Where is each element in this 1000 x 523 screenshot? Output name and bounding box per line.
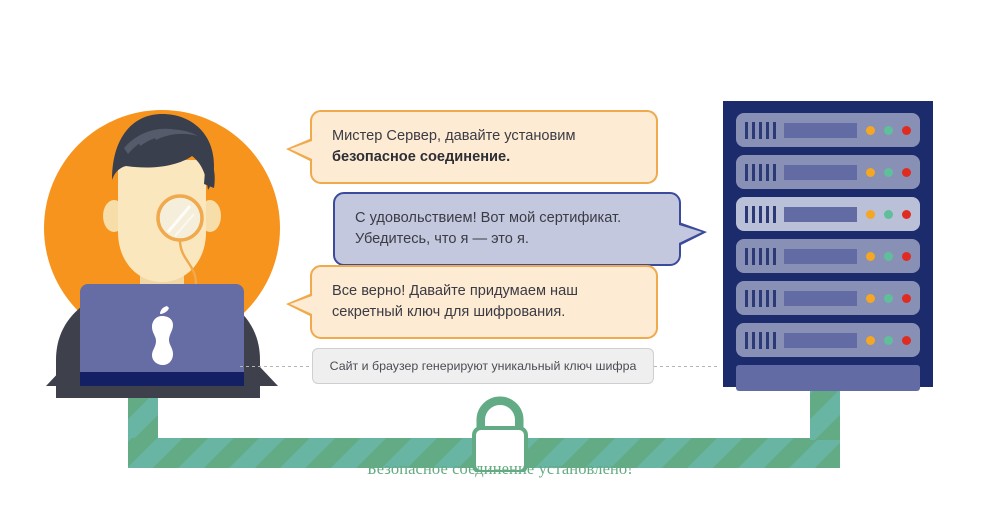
vent-bar (773, 332, 776, 349)
bubble-tail-left (286, 138, 312, 162)
speech-bubble-browser-2[interactable]: Все верно! Давайте придумаем наш секретн… (310, 265, 658, 339)
server-led-group (866, 210, 911, 219)
connector-band-right (810, 388, 840, 440)
vent-bar (773, 164, 776, 181)
vent-bar (745, 206, 748, 223)
status-led (866, 126, 875, 135)
vent-bar (745, 290, 748, 307)
vent-bar (766, 122, 769, 139)
status-led (902, 126, 911, 135)
server-led-group (866, 294, 911, 303)
status-led (884, 126, 893, 135)
vent-bar (752, 332, 755, 349)
status-led (902, 336, 911, 345)
server-drive-slot (784, 207, 857, 222)
vent-bar (773, 248, 776, 265)
keygen-label: Сайт и браузер генерируют уникальный клю… (312, 348, 654, 384)
caption-secure-connection: Безопасное соединение установлено! (0, 459, 1000, 479)
speech-bubble-server-1[interactable]: С удовольствием! Вот мой сертификат. Убе… (333, 192, 681, 266)
keygen-label-text: Сайт и браузер генерируют уникальный клю… (330, 359, 637, 373)
status-led (902, 252, 911, 261)
server-drive-slot (784, 333, 857, 348)
bubble-3-line-2: секретный ключ для шифрования. (332, 302, 636, 323)
laptop-base (80, 372, 244, 386)
status-led (884, 210, 893, 219)
connector-band-left (128, 396, 158, 440)
laptop (46, 284, 278, 386)
status-led (866, 294, 875, 303)
server-drive-slot (784, 165, 857, 180)
status-led (866, 210, 875, 219)
server-led-group (866, 168, 911, 177)
status-led (884, 294, 893, 303)
server-unit (736, 197, 920, 231)
vent-bar (745, 164, 748, 181)
vent-bar (745, 248, 748, 265)
status-led (902, 294, 911, 303)
vent-bar (759, 206, 762, 223)
bubble-3-line-1: Все верно! Давайте придумаем наш (332, 281, 636, 302)
speech-bubble-browser-1[interactable]: Мистер Сервер, давайте установим безопас… (310, 110, 658, 184)
vent-bar (766, 248, 769, 265)
bubble-1-line-2-bold: безопасное соединение. (332, 149, 510, 165)
server-rack (723, 101, 933, 387)
server-unit (736, 155, 920, 189)
status-led (902, 168, 911, 177)
character-illustration (28, 88, 296, 398)
server-vents-icon (745, 206, 776, 223)
vent-bar (752, 290, 755, 307)
vent-bar (766, 164, 769, 181)
vent-bar (759, 122, 762, 139)
server-vents-icon (745, 332, 776, 349)
bubble-1-line-1: Мистер Сервер, давайте установим (332, 126, 636, 147)
vent-bar (773, 290, 776, 307)
vent-bar (745, 122, 748, 139)
server-unit (736, 281, 920, 315)
vent-bar (752, 206, 755, 223)
server-unit (736, 113, 920, 147)
vent-bar (759, 164, 762, 181)
vent-bar (752, 248, 755, 265)
status-led (866, 336, 875, 345)
vent-bar (766, 206, 769, 223)
server-blank-panel (736, 365, 920, 391)
server-drive-slot (784, 249, 857, 264)
vent-bar (773, 122, 776, 139)
status-led (866, 168, 875, 177)
server-unit (736, 239, 920, 273)
status-led (884, 252, 893, 261)
vent-bar (766, 290, 769, 307)
server-drive-slot (784, 123, 857, 138)
server-led-group (866, 126, 911, 135)
server-vents-icon (745, 164, 776, 181)
vent-bar (766, 332, 769, 349)
server-led-group (866, 336, 911, 345)
bubble-2-line-1: С удовольствием! Вот мой сертификат. (355, 208, 659, 229)
status-led (866, 252, 875, 261)
server-vents-icon (745, 248, 776, 265)
infographic-scene: Сайт и браузер генерируют уникальный клю… (0, 0, 1000, 523)
status-led (884, 336, 893, 345)
bubble-tail-left (286, 293, 312, 317)
server-vents-icon (745, 122, 776, 139)
vent-bar (752, 122, 755, 139)
bubble-tail-right (679, 222, 707, 246)
server-led-group (866, 252, 911, 261)
bubble-2-line-2: Убедитесь, что я — это я. (355, 229, 659, 250)
server-unit (736, 323, 920, 357)
vent-bar (759, 290, 762, 307)
vent-bar (773, 206, 776, 223)
vent-bar (752, 164, 755, 181)
vent-bar (759, 248, 762, 265)
server-drive-slot (784, 291, 857, 306)
vent-bar (745, 332, 748, 349)
vent-bar (759, 332, 762, 349)
status-led (902, 210, 911, 219)
status-led (884, 168, 893, 177)
server-vents-icon (745, 290, 776, 307)
